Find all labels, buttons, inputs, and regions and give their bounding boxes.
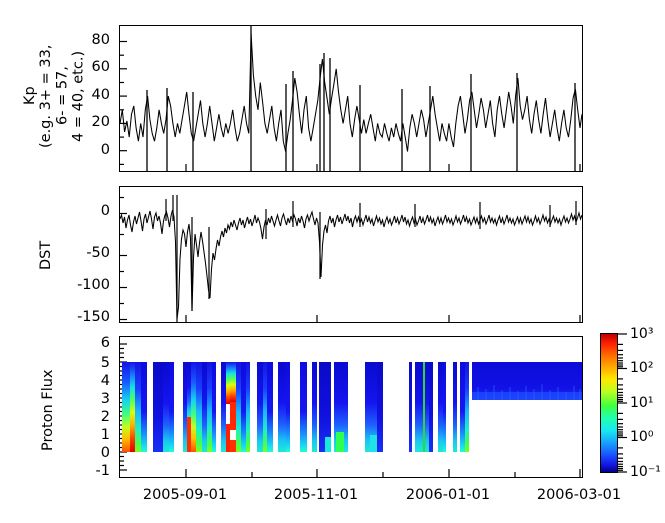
flux-ytick-label: 1: [62, 427, 110, 443]
dst-plot-panel: [119, 186, 583, 323]
kp-plot-panel: [119, 25, 583, 172]
colorbar-tick-label: 10²: [630, 360, 653, 376]
kp-ytick-label: 80: [62, 32, 110, 48]
dst-ytick-label: -150: [50, 309, 110, 325]
flux-heatmap-blocks: [122, 362, 582, 452]
x-axis-tick-label: 2005-09-01: [125, 487, 245, 503]
kp-ytick-label: 0: [62, 142, 110, 158]
x-axis-tick-label: 2006-03-01: [519, 487, 639, 503]
colorbar-tick-label: 10³: [630, 326, 653, 342]
colorbar-tick-label: 10⁻¹: [630, 464, 661, 480]
colorbar-tick-label: 10⁰: [630, 429, 653, 445]
kp-ytick-label: 20: [62, 114, 110, 130]
flux-ytick-label: 0: [62, 445, 110, 461]
kp-yaxis-ticks: [120, 42, 127, 165]
proton-flux-plot-panel: [119, 336, 583, 478]
dst-series-svg: [120, 187, 582, 322]
dst-ytick-label: -100: [50, 277, 110, 293]
flux-ytick-label: 3: [62, 391, 110, 407]
x-axis-tick-label: 2006-01-01: [388, 487, 508, 503]
proton-flux-axis-label: Proton Flux: [40, 355, 62, 465]
kp-ytick-label: 60: [62, 59, 110, 75]
flux-ytick-label: 5: [62, 355, 110, 371]
dst-trace: [120, 210, 582, 319]
kp-trace: [120, 34, 582, 152]
proton-flux-heatmap-svg: [120, 337, 582, 477]
dst-ytick-label: -50: [56, 245, 110, 261]
dst-spikes: [166, 195, 576, 322]
dst-xaxis-ticks: [186, 315, 580, 322]
flux-ytick-label: -1: [56, 463, 110, 479]
x-axis-tick-label: 2005-11-01: [256, 487, 376, 503]
colorbar: [600, 333, 618, 473]
kp-spikes: [147, 26, 575, 171]
kp-xaxis-ticks: [186, 164, 580, 171]
figure-canvas: Kp (e.g. 3+ = 33, 6- = 57, 4 = 40, etc.)…: [0, 0, 665, 523]
colorbar-ticks-svg: [618, 333, 628, 475]
flux-ytick-label: 2: [62, 409, 110, 425]
kp-ytick-label: 40: [62, 87, 110, 103]
flux-ytick-label: 4: [62, 373, 110, 389]
flux-ytick-label: 6: [62, 335, 110, 351]
dst-ytick-label: 0: [62, 203, 110, 219]
kp-series-svg: [120, 26, 582, 171]
flux-xaxis-ticks: [186, 469, 580, 477]
colorbar-tick-label: 10¹: [630, 395, 653, 411]
